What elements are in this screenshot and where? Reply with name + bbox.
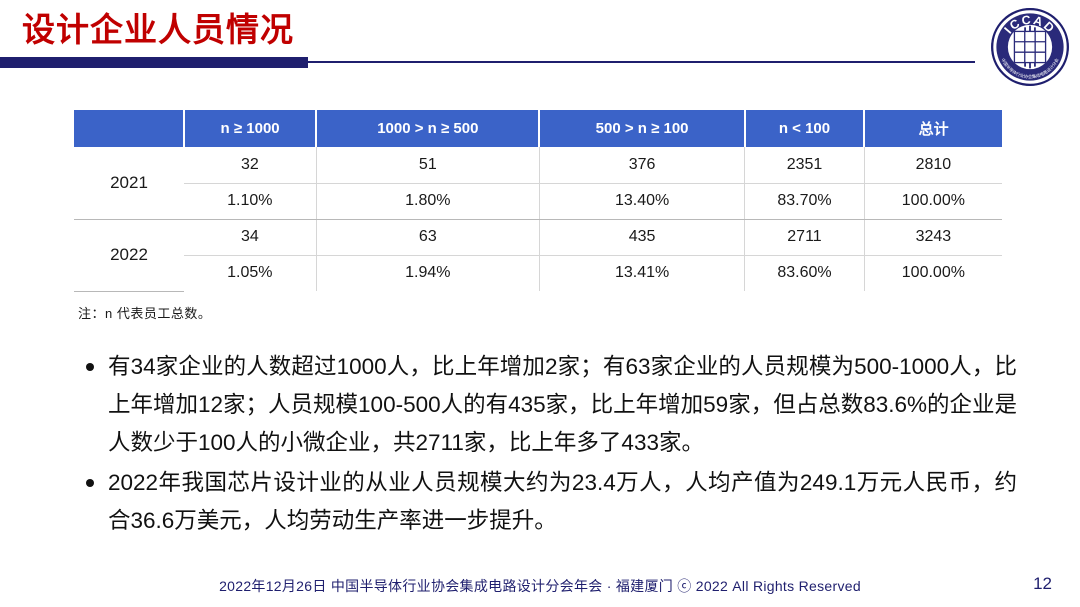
list-item: 2022年我国芯片设计业的从业人员规模大约为23.4万人，人均产值为249.1万… bbox=[82, 464, 1017, 540]
bullet-text: 2022年我国芯片设计业的从业人员规模大约为23.4万人，人均产值为249.1万… bbox=[108, 470, 1017, 533]
cell-2022-count-c2: 63 bbox=[316, 219, 539, 255]
cell-2022-pct-c4: 83.60% bbox=[745, 255, 865, 291]
personnel-table: n ≥ 1000 1000 > n ≥ 500 500 > n ≥ 100 n … bbox=[74, 110, 1002, 292]
cell-2021-pct-c3: 13.40% bbox=[539, 183, 744, 219]
cell-2021-count-total: 2810 bbox=[864, 147, 1002, 183]
table-header-total: 总计 bbox=[864, 110, 1002, 147]
cell-2022-pct-c2: 1.94% bbox=[316, 255, 539, 291]
slide-canvas: 设计企业人员情况 bbox=[0, 0, 1080, 607]
bullet-dot-icon bbox=[86, 479, 94, 487]
cell-2022-count-c3: 435 bbox=[539, 219, 744, 255]
cell-2021-count-c2: 51 bbox=[316, 147, 539, 183]
list-item: 有34家企业的人数超过1000人，比上年增加2家；有63家企业的人员规模为500… bbox=[82, 348, 1017, 462]
cell-2022-pct-c3: 13.41% bbox=[539, 255, 744, 291]
row-year-2022: 2022 bbox=[74, 219, 184, 291]
cell-2022-count-c4: 2711 bbox=[745, 219, 865, 255]
row-year-2021: 2021 bbox=[74, 147, 184, 219]
bullet-dot-icon bbox=[86, 363, 94, 371]
page-number: 12 bbox=[1033, 574, 1052, 594]
table-row: 1.10% 1.80% 13.40% 83.70% 100.00% bbox=[74, 183, 1002, 219]
cell-2021-count-c3: 376 bbox=[539, 147, 744, 183]
table-header-row: n ≥ 1000 1000 > n ≥ 500 500 > n ≥ 100 n … bbox=[74, 110, 1002, 147]
table-header-corner bbox=[74, 110, 184, 147]
cell-2021-pct-total: 100.00% bbox=[864, 183, 1002, 219]
cell-2021-count-c4: 2351 bbox=[745, 147, 865, 183]
table-row: 2021 32 51 376 2351 2810 bbox=[74, 147, 1002, 183]
table-row: 2022 34 63 435 2711 3243 bbox=[74, 219, 1002, 255]
cell-2021-pct-c1: 1.10% bbox=[184, 183, 316, 219]
page-title: 设计企业人员情况 bbox=[22, 8, 294, 52]
cell-2021-pct-c4: 83.70% bbox=[745, 183, 865, 219]
bullet-text: 有34家企业的人数超过1000人，比上年增加2家；有63家企业的人员规模为500… bbox=[108, 354, 1017, 455]
bullet-list: 有34家企业的人数超过1000人，比上年增加2家；有63家企业的人员规模为500… bbox=[82, 348, 1017, 542]
footer-text: 2022年12月26日 中国半导体行业协会集成电路设计分会年会 · 福建厦门 ⓒ… bbox=[0, 576, 1080, 596]
title-underline-thin bbox=[308, 61, 975, 63]
cell-2022-pct-c1: 1.05% bbox=[184, 255, 316, 291]
iccad-logo-icon: ICCAD 中国半导体行业协会集成电路设计分会 bbox=[989, 6, 1071, 88]
cell-2022-pct-total: 100.00% bbox=[864, 255, 1002, 291]
table-header-n-ge-1000: n ≥ 1000 bbox=[184, 110, 316, 147]
table-header-500-to-100: 500 > n ≥ 100 bbox=[539, 110, 744, 147]
cell-2021-count-c1: 32 bbox=[184, 147, 316, 183]
table-note: 注：n 代表员工总数。 bbox=[78, 303, 211, 322]
cell-2022-count-c1: 34 bbox=[184, 219, 316, 255]
table-header-n-lt-100: n < 100 bbox=[745, 110, 865, 147]
table-row: 1.05% 1.94% 13.41% 83.60% 100.00% bbox=[74, 255, 1002, 291]
cell-2022-count-total: 3243 bbox=[864, 219, 1002, 255]
title-underline-thick bbox=[0, 57, 308, 68]
table-header-1000-to-500: 1000 > n ≥ 500 bbox=[316, 110, 539, 147]
cell-2021-pct-c2: 1.80% bbox=[316, 183, 539, 219]
